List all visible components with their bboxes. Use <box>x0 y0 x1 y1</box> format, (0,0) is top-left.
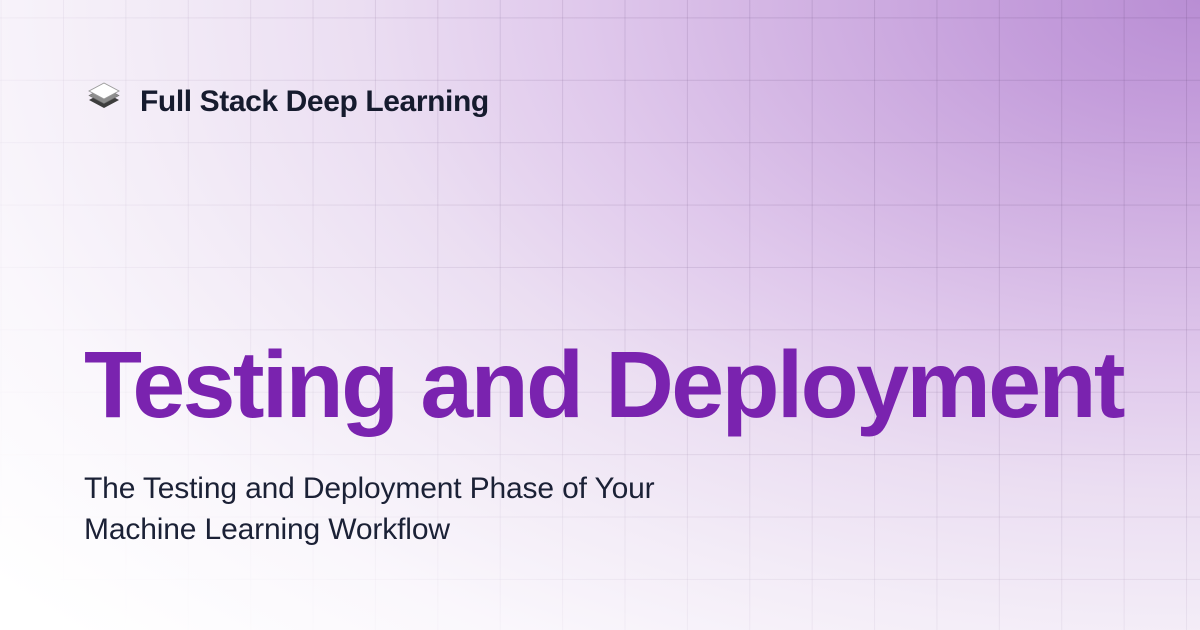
page-subtitle: The Testing and Deployment Phase of Your… <box>84 468 844 551</box>
page-subtitle-line-1: The Testing and Deployment Phase of Your <box>84 468 844 509</box>
social-share-card: Full Stack Deep Learning Testing and Dep… <box>0 0 1200 630</box>
brand-lockup: Full Stack Deep Learning <box>84 82 489 122</box>
card-content: Full Stack Deep Learning Testing and Dep… <box>0 0 1200 630</box>
page-title: Testing and Deployment <box>84 336 1123 435</box>
page-subtitle-line-2: Machine Learning Workflow <box>84 509 844 550</box>
stacked-layers-icon <box>84 82 124 122</box>
brand-name: Full Stack Deep Learning <box>140 87 489 117</box>
